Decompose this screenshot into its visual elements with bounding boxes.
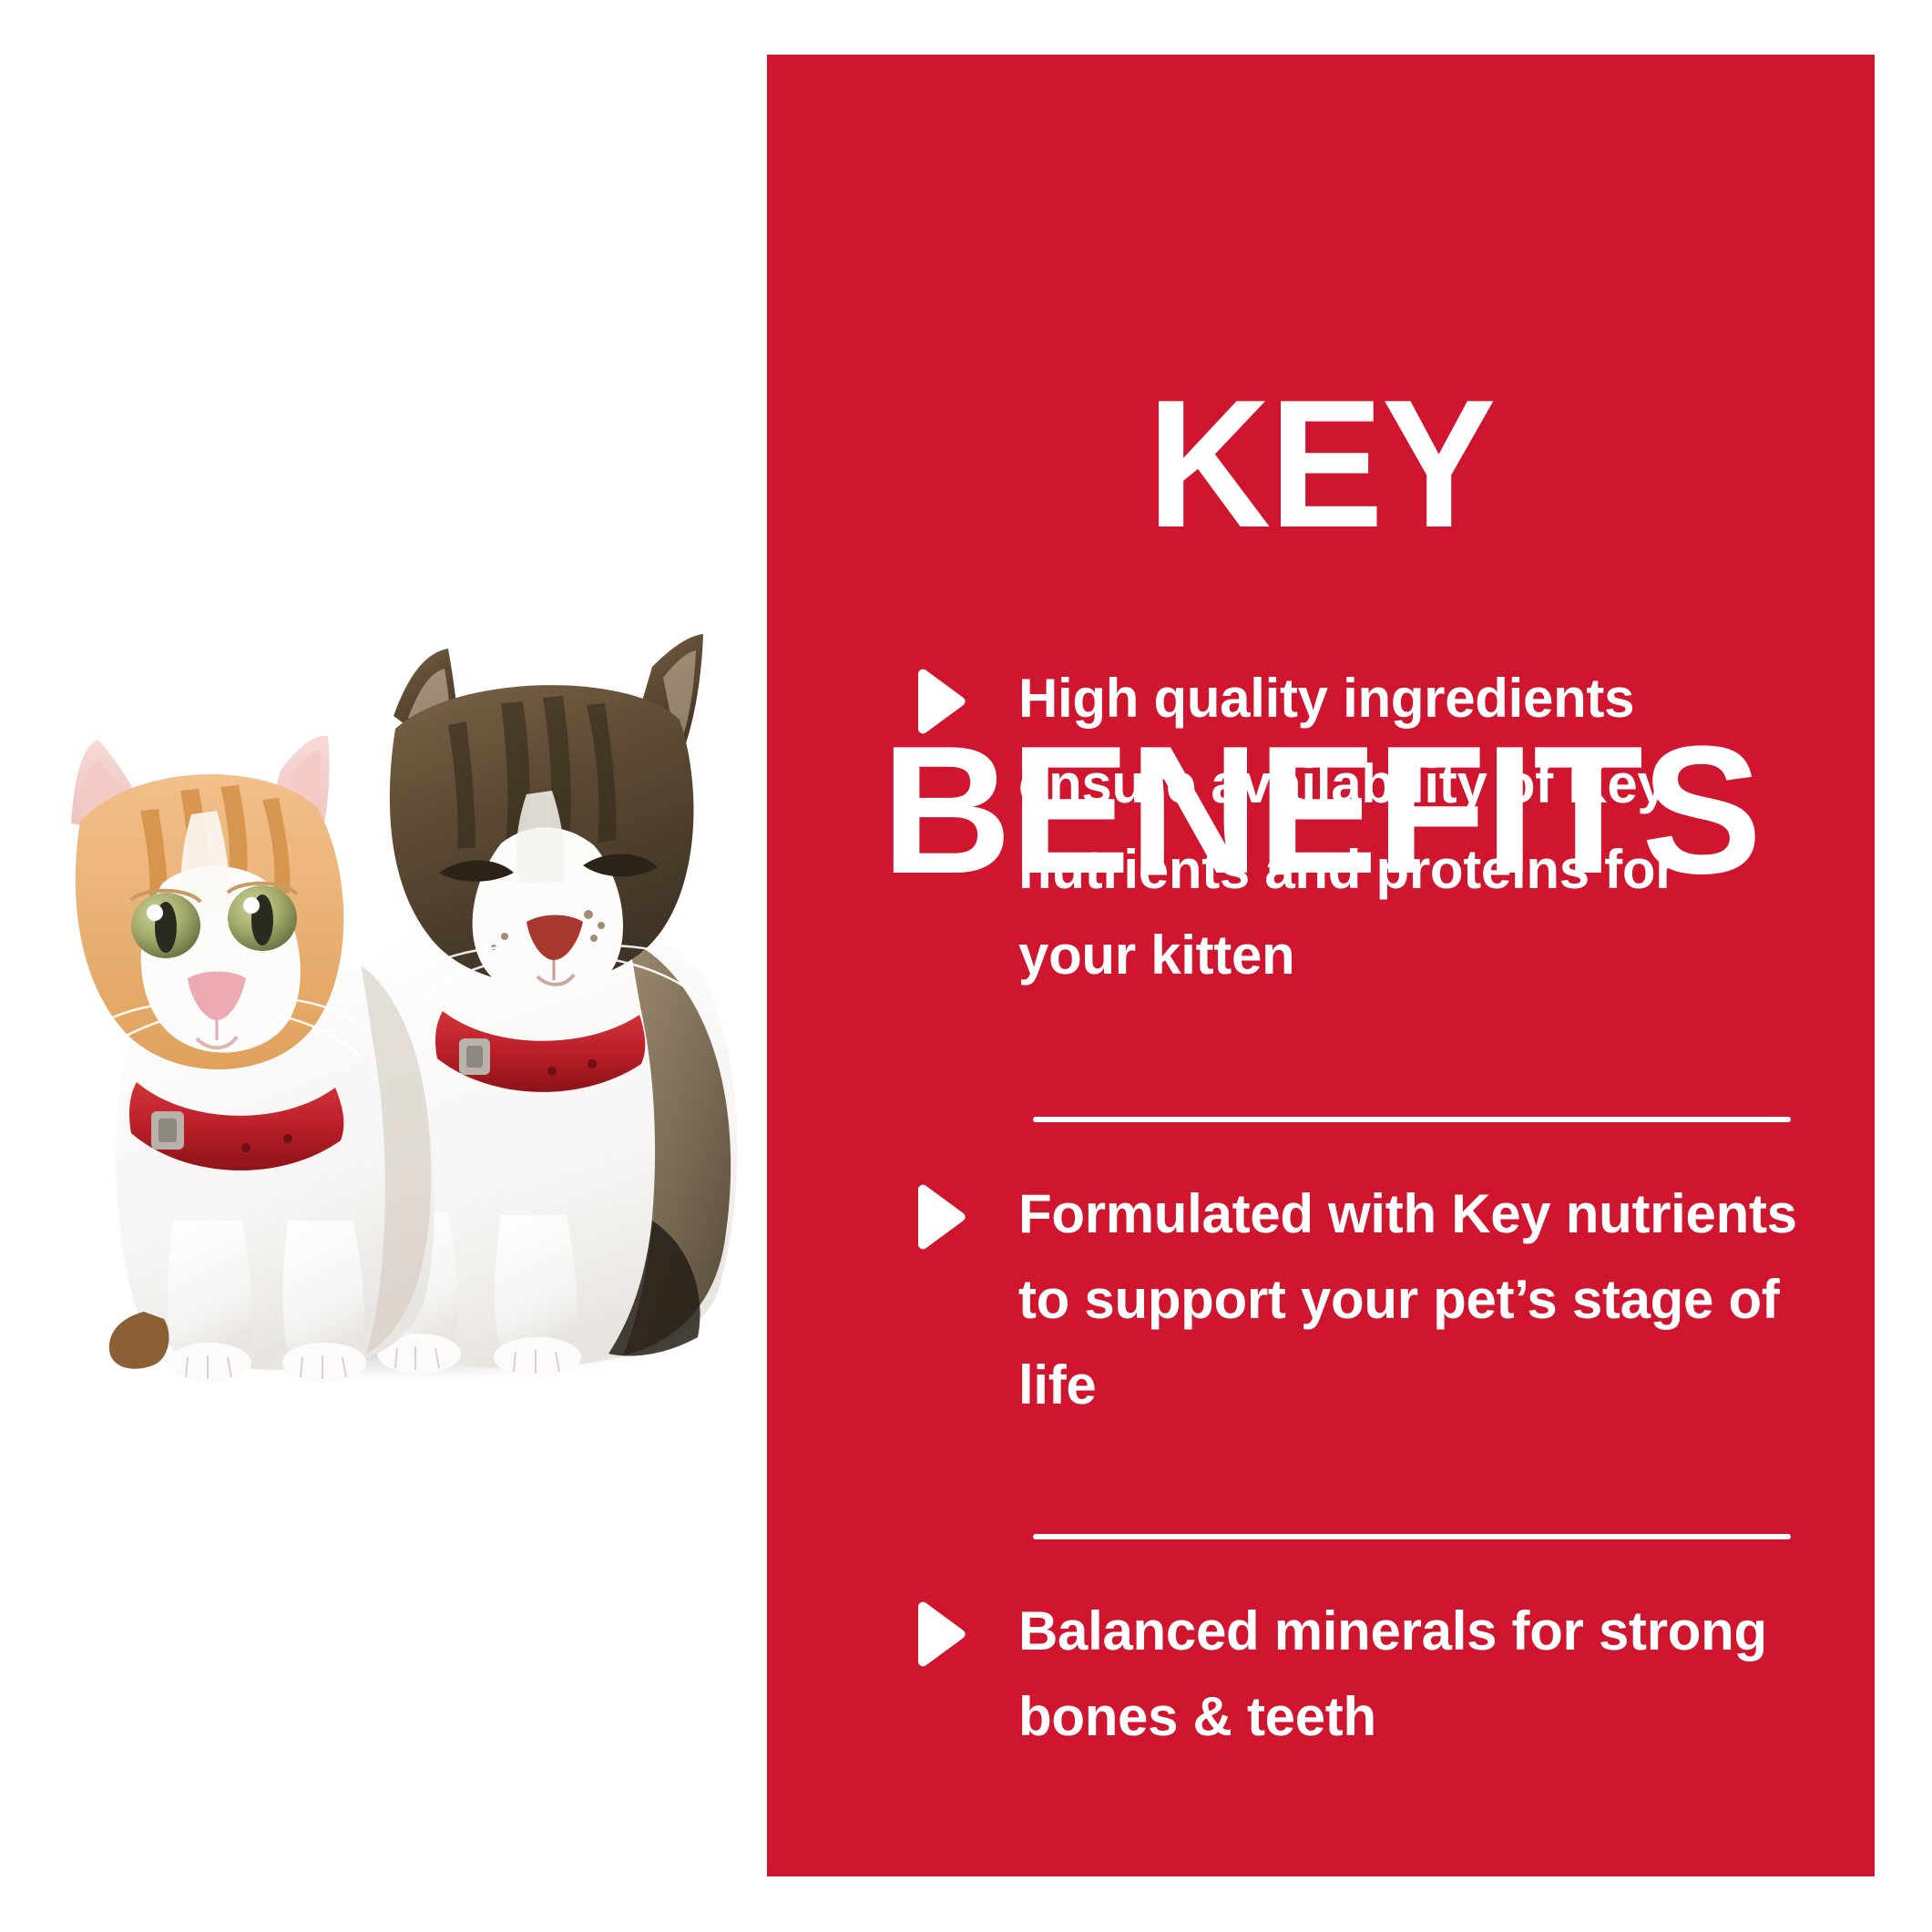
tail <box>109 1312 169 1369</box>
photo-panel <box>0 0 770 1932</box>
page-title-line-1: KEY <box>800 378 1841 551</box>
play-triangle-icon <box>913 1184 967 1250</box>
key-benefits-graphic: KEY BENEFITS High quality ingredients en… <box>0 0 1932 1932</box>
benefit-text-3: Balanced minerals for strong bones & tee… <box>1018 1589 1806 1760</box>
play-triangle-icon <box>913 1601 967 1667</box>
kitten-left <box>64 736 434 1383</box>
kitten-photo <box>27 583 783 1403</box>
benefits-panel: KEY BENEFITS High quality ingredients en… <box>767 55 1875 1876</box>
benefit-divider-1 <box>1033 1117 1791 1122</box>
benefit-text-2: Formulated with Key nutrients to support… <box>1018 1171 1806 1428</box>
benefit-item-1: High quality ingredients ensure availabi… <box>767 656 1875 998</box>
benefit-text-1: High quality ingredients ensure availabi… <box>1018 656 1806 998</box>
benefit-item-2: Formulated with Key nutrients to support… <box>767 1171 1875 1428</box>
benefit-divider-2 <box>1033 1534 1791 1539</box>
benefits-list: High quality ingredients ensure availabi… <box>767 656 1875 1760</box>
benefit-item-3: Balanced minerals for strong bones & tee… <box>767 1589 1875 1760</box>
play-triangle-icon <box>913 669 967 734</box>
